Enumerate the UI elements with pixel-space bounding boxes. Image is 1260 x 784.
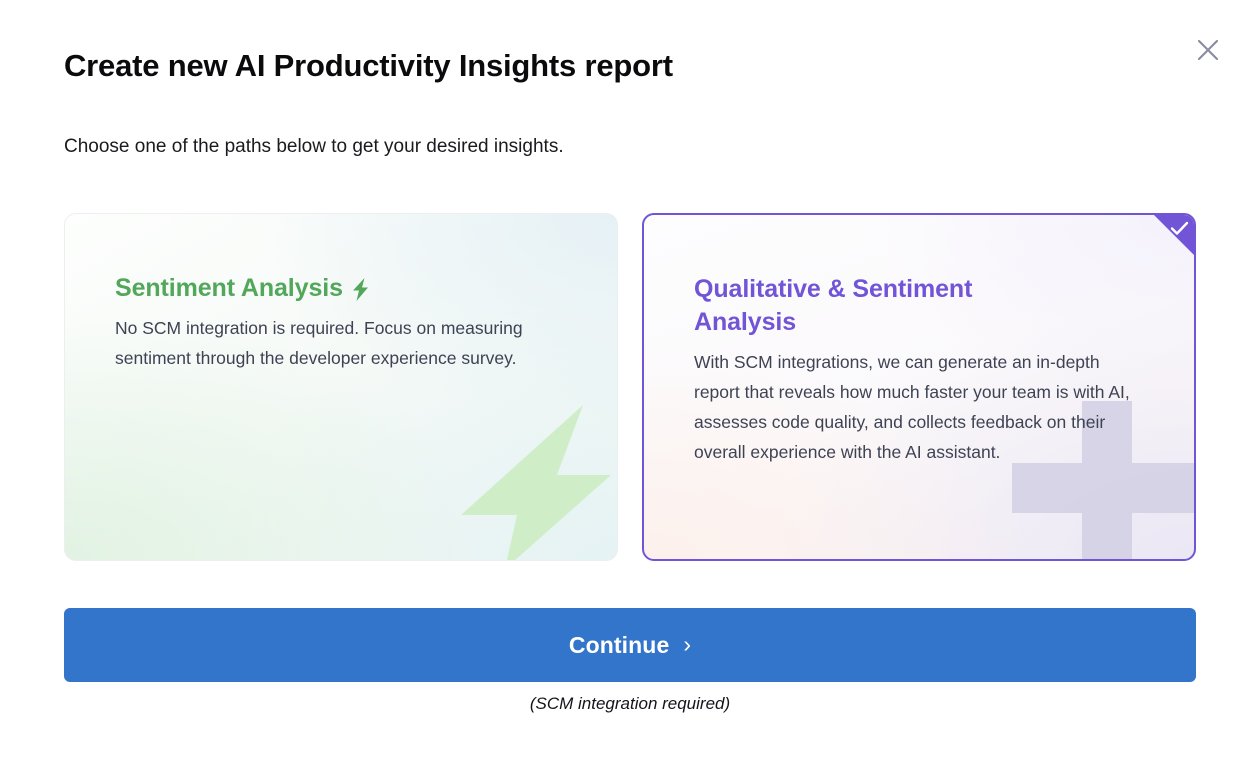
option-card-sentiment-analysis[interactable]: Sentiment Analysis No SCM integration is… [64, 213, 618, 561]
chevron-right-icon: › [683, 633, 691, 656]
card-body: Qualitative & Sentiment Analysis With SC… [644, 215, 1194, 467]
card-description: With SCM integrations, we can generate a… [694, 347, 1134, 467]
page-subtitle: Choose one of the paths below to get you… [64, 133, 564, 161]
option-card-list: Sentiment Analysis No SCM integration is… [64, 213, 1196, 561]
check-icon [1170, 221, 1189, 237]
card-body: Sentiment Analysis No SCM integration is… [65, 214, 617, 373]
scm-requirement-note: (SCM integration required) [0, 694, 1260, 714]
lightning-bolt-icon [352, 278, 369, 301]
option-card-qualitative-sentiment-analysis[interactable]: Qualitative & Sentiment Analysis With SC… [642, 213, 1196, 561]
close-icon-glyph [1195, 37, 1221, 63]
close-icon[interactable] [1191, 33, 1225, 67]
create-report-dialog: Create new AI Productivity Insights repo… [0, 0, 1260, 784]
continue-button[interactable]: Continue › [64, 608, 1196, 682]
card-title-text: Sentiment Analysis [115, 272, 343, 305]
lightning-bolt-watermark [435, 397, 618, 561]
card-title: Qualitative & Sentiment Analysis [694, 273, 1049, 339]
card-title: Sentiment Analysis [115, 272, 569, 305]
card-description: No SCM integration is required. Focus on… [115, 313, 535, 373]
continue-button-label: Continue [569, 632, 669, 659]
page-title: Create new AI Productivity Insights repo… [64, 46, 673, 86]
card-title-text: Qualitative & Sentiment Analysis [694, 275, 972, 336]
selected-badge [1153, 214, 1195, 256]
